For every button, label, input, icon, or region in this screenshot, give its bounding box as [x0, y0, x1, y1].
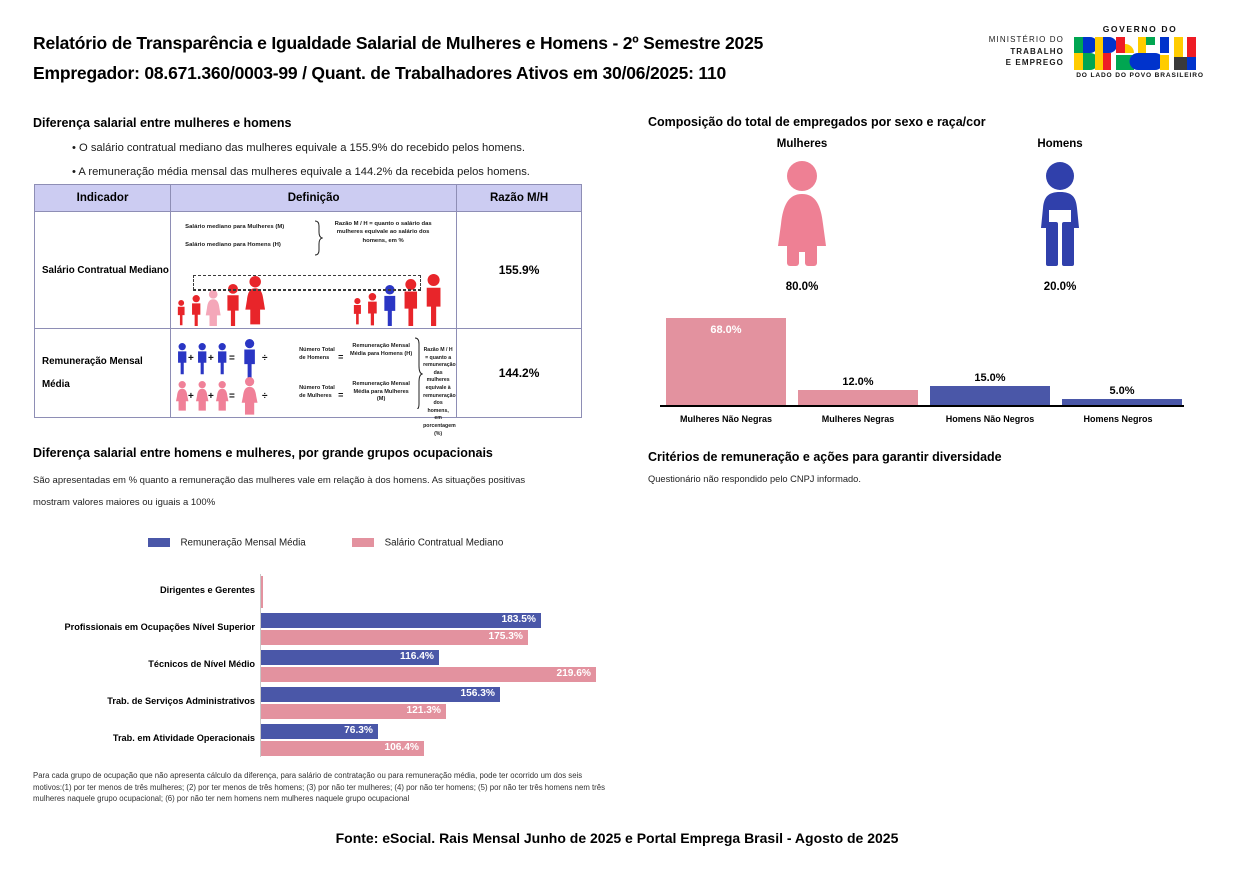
svg-text:+: +: [188, 391, 194, 402]
criteria-section-title: Critérios de remuneração e ações para ga…: [648, 450, 1002, 464]
occ-bar-media-4: 76.3%: [261, 724, 378, 739]
race-value-1: 12.0%: [798, 376, 918, 388]
occ-category-1: Profissionais em Ocupações Nível Superio…: [33, 622, 255, 633]
women-composition-figure: Mulheres 80.0%: [742, 138, 862, 293]
race-composition-chart: 68.0% 12.0% 15.0% 5.0% Mulheres Não Negr…: [660, 318, 1184, 428]
col-header-razao: Razão M/H: [457, 185, 582, 212]
women-result-label: Remuneração Mensal Média para Mulheres (…: [349, 381, 413, 404]
race-category-1: Mulheres Negras: [792, 414, 924, 424]
brasil-logo-icon: [1074, 37, 1206, 70]
race-column-1: 12.0%: [798, 390, 918, 406]
occ-value-media-2: 116.4%: [400, 651, 434, 662]
occ-value-mediano-4: 106.4%: [384, 742, 419, 753]
occ-group-2: Técnicos de Nível Médio 116.4% 219.6%: [33, 648, 608, 685]
men-composition-figure: Homens 20.0%: [1000, 138, 1120, 293]
median-women-label: Salário mediano para Mulheres (M): [185, 224, 284, 230]
race-column-2: 15.0%: [930, 386, 1050, 406]
pay-gap-section-title: Diferença salarial entre mulheres e home…: [33, 116, 291, 130]
occ-value-mediano-1: 175.3%: [488, 631, 523, 642]
occ-group-0: Dirigentes e Gerentes: [33, 574, 608, 611]
row-1-definition: Salário mediano para Mulheres (M) Salári…: [171, 212, 457, 329]
ministry-line-3: E EMPREGO: [968, 57, 1064, 69]
legend-swatch-media: [148, 538, 170, 547]
page-header: Relatório de Transparência e Igualdade S…: [0, 0, 1234, 100]
composition-section-title: Composição do total de empregados por se…: [648, 115, 986, 129]
women-numerator-label: Número Total de Mulheres: [299, 385, 335, 400]
occ-group-3: Trab. de Serviços Administrativos 156.3%…: [33, 685, 608, 722]
race-value-3: 5.0%: [1062, 385, 1182, 397]
row-1-def-note: Razão M / H = quanto o salário das mulhe…: [329, 220, 437, 245]
row-1-indicator: Salário Contratual Mediano: [35, 212, 171, 329]
occ-bar-mediano-1: 175.3%: [261, 630, 528, 645]
occ-bar-media-1: 183.5%: [261, 613, 541, 628]
row-2-indicator-line-2: Média: [42, 379, 170, 390]
comparison-dash-line: [193, 290, 421, 291]
sum-figures-icon: ++ =÷ ++ =÷: [175, 329, 295, 417]
occupational-section-title: Diferença salarial entre homens e mulher…: [33, 446, 493, 460]
race-column-0: 68.0%: [666, 318, 786, 406]
col-header-definicao: Definição: [171, 185, 457, 212]
svg-text:=: =: [229, 353, 235, 364]
people-pictogram-row: [171, 270, 456, 326]
race-bar-2: [930, 386, 1050, 406]
female-figure-icon: [770, 160, 834, 268]
legend-swatch-mediano: [352, 538, 374, 547]
men-numerator-label: Número Total de Homens: [299, 347, 335, 362]
median-salary-diagram: Salário mediano para Mulheres (M) Salári…: [171, 212, 456, 328]
equals-sign-women: =: [338, 390, 343, 400]
source-footer: Fonte: eSocial. Rais Mensal Junho de 202…: [0, 830, 1234, 846]
occupational-bar-chart: Dirigentes e Gerentes Profissionais em O…: [33, 570, 608, 765]
col-header-indicador: Indicador: [35, 185, 171, 212]
occ-category-3: Trab. de Serviços Administrativos: [33, 696, 255, 707]
svg-text:+: +: [208, 391, 214, 402]
comparison-dash-box: [193, 275, 421, 290]
row-2-indicator-line-1: Remuneração Mensal: [42, 356, 170, 367]
government-logo-block: MINISTÉRIO DO TRABALHO E EMPREGO GOVERNO…: [968, 24, 1208, 84]
occupational-footnote: Para cada grupo de ocupação que não apre…: [33, 770, 613, 805]
race-bar-1: [798, 390, 918, 406]
occ-value-media-1: 183.5%: [501, 614, 536, 625]
ratio-table: Indicador Definição Razão M/H Salário Co…: [34, 184, 582, 418]
occ-value-mediano-3: 121.3%: [406, 705, 441, 716]
report-title-line-2: Empregador: 08.671.360/0003-99 / Quant. …: [33, 58, 763, 88]
race-category-0: Mulheres Não Negras: [660, 414, 792, 424]
criteria-body-text: Questionário não respondido pelo CNPJ in…: [648, 474, 861, 484]
occ-bar-media-3: 156.3%: [261, 687, 500, 702]
race-category-2: Homens Não Negros: [924, 414, 1056, 424]
occ-category-0: Dirigentes e Gerentes: [33, 585, 255, 596]
occ-category-2: Técnicos de Nível Médio: [33, 659, 255, 670]
ministry-wordmark: MINISTÉRIO DO TRABALHO E EMPREGO: [968, 34, 1064, 69]
svg-text:÷: ÷: [262, 353, 268, 364]
occ-bar-mediano-4: 106.4%: [261, 741, 424, 756]
brace-icon-2: [414, 337, 423, 409]
pay-gap-bullets: • O salário contratual mediano das mulhe…: [72, 136, 602, 184]
occupational-chart-legend: Remuneração Mensal Média Salário Contrat…: [148, 534, 545, 548]
occupational-subtitle-line-1: São apresentadas em % quanto a remuneraç…: [33, 470, 603, 492]
svg-text:÷: ÷: [262, 391, 268, 402]
race-value-0: 68.0%: [666, 324, 786, 336]
row-1-ratio: 155.9%: [457, 212, 582, 329]
ministry-line-2: TRABALHO: [968, 46, 1064, 58]
women-figure-pct: 80.0%: [742, 281, 862, 293]
legend-label-mediano: Salário Contratual Mediano: [385, 537, 504, 548]
occ-bar-empty-0: [261, 576, 263, 608]
race-category-3: Homens Negros: [1052, 414, 1184, 424]
median-men-label: Salário mediano para Homens (H): [185, 242, 281, 248]
report-title-block: Relatório de Transparência e Igualdade S…: [33, 28, 763, 88]
male-figure-icon: [1028, 160, 1092, 268]
pay-gap-bullet-1: • O salário contratual mediano das mulhe…: [72, 136, 602, 160]
occ-group-1: Profissionais em Ocupações Nível Superio…: [33, 611, 608, 648]
occ-value-mediano-2: 219.6%: [556, 668, 591, 679]
women-figure-label: Mulheres: [742, 138, 862, 150]
occ-value-media-4: 76.3%: [344, 725, 373, 736]
svg-text:+: +: [208, 353, 214, 364]
occupational-subtitle: São apresentadas em % quanto a remuneraç…: [33, 470, 603, 514]
row-2-definition: ++ =÷ ++ =÷ Número Total de Homens = Rem…: [171, 329, 457, 418]
pay-gap-bullet-2: • A remuneração média mensal das mulhere…: [72, 160, 602, 184]
occ-bar-mediano-3: 121.3%: [261, 704, 446, 719]
report-title-line-1: Relatório de Transparência e Igualdade S…: [33, 28, 763, 58]
table-row: Salário Contratual Mediano Salário media…: [35, 212, 582, 329]
row-2-indicator: Remuneração Mensal Média: [35, 329, 171, 418]
men-figure-label: Homens: [1000, 138, 1120, 150]
men-figure-pct: 20.0%: [1000, 281, 1120, 293]
occ-group-4: Trab. em Atividade Operacionais 76.3% 10…: [33, 722, 608, 759]
table-row: Remuneração Mensal Média: [35, 329, 582, 418]
table-header-row: Indicador Definição Razão M/H: [35, 185, 582, 212]
men-result-label: Remuneração Mensal Média para Homens (H): [349, 343, 413, 358]
svg-text:=: =: [229, 391, 235, 402]
brasil-logo: GOVERNO DO: [1074, 24, 1206, 79]
equals-sign-men: =: [338, 352, 343, 362]
row-2-def-note: Razão M / H = quanto a remuneração das m…: [423, 347, 453, 438]
occupational-subtitle-line-2: mostram valores maiores ou iguais a 100%: [33, 492, 603, 514]
race-chart-axis: [660, 405, 1184, 407]
governo-do-text: GOVERNO DO: [1074, 24, 1206, 36]
svg-text:+: +: [188, 353, 194, 364]
occ-bar-media-2: 116.4%: [261, 650, 439, 665]
legend-item-media: Remuneração Mensal Média: [148, 534, 306, 552]
occ-bar-mediano-2: 219.6%: [261, 667, 596, 682]
legend-item-mediano: Salário Contratual Mediano: [352, 534, 503, 552]
row-2-ratio: 144.2%: [457, 329, 582, 418]
race-value-2: 15.0%: [930, 372, 1050, 384]
brace-icon: [314, 220, 323, 256]
do-lado-do-povo-text: DO LADO DO POVO BRASILEIRO: [1074, 72, 1206, 79]
occ-category-4: Trab. em Atividade Operacionais: [33, 733, 255, 744]
ministry-line-1: MINISTÉRIO DO: [968, 34, 1064, 46]
monthly-pay-diagram: ++ =÷ ++ =÷ Número Total de Homens = Rem…: [171, 329, 456, 417]
legend-label-media: Remuneração Mensal Média: [180, 537, 305, 548]
occ-value-media-3: 156.3%: [460, 688, 495, 699]
race-bar-0: 68.0%: [666, 318, 786, 406]
